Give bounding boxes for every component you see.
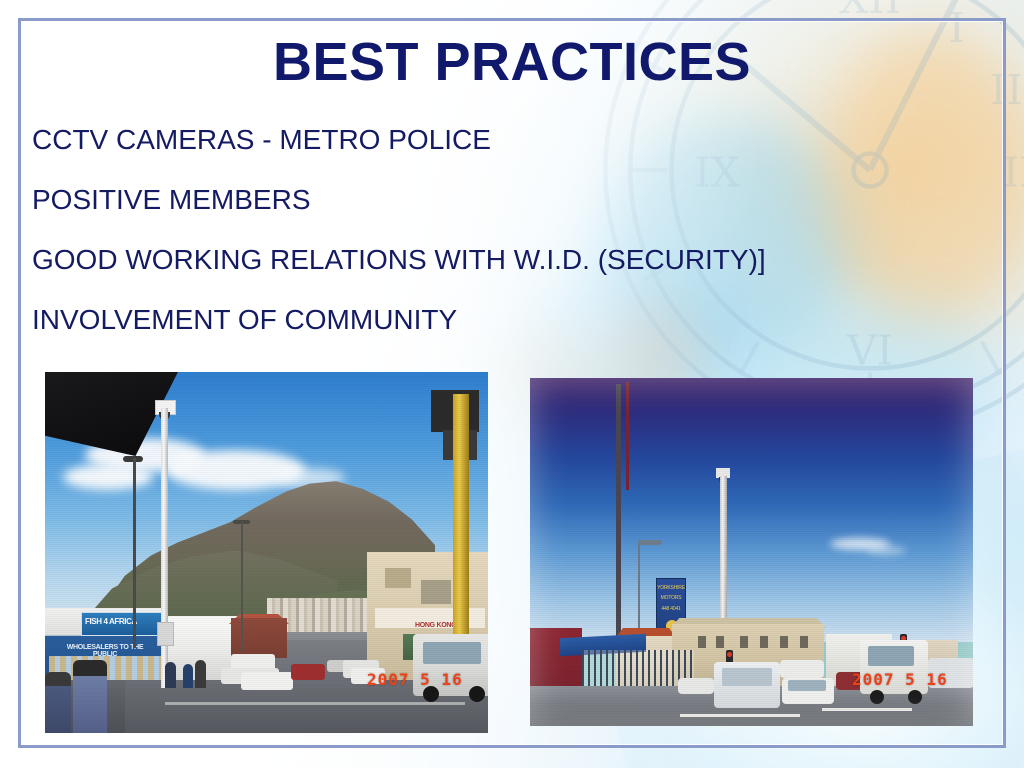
bullet-item-3: GOOD WORKING RELATIONS WITH W.I.D. (SECU… [32, 246, 832, 274]
bullet-item-2: POSITIVE MEMBERS [32, 186, 832, 214]
photo-street-cctv[interactable]: FISH 4 AFRICA WHOLESALERS TO THE PUBLIC … [45, 372, 488, 733]
photo-intersection-cctv[interactable]: YORKSHIRE MOTORS 448 4041 [530, 378, 973, 726]
bullet-item-4: INVOLVEMENT OF COMMUNITY [32, 306, 832, 334]
slide: XIIIII VIIX III BEST PRACTICES CCTV CAME… [0, 0, 1024, 768]
bullet-item-1: CCTV CAMERAS - METRO POLICE [32, 126, 832, 154]
bullet-list: CCTV CAMERAS - METRO POLICE POSITIVE MEM… [32, 126, 832, 366]
page-title: BEST PRACTICES [0, 33, 1024, 91]
photo-grain [45, 372, 488, 733]
photo-grain [530, 378, 973, 726]
